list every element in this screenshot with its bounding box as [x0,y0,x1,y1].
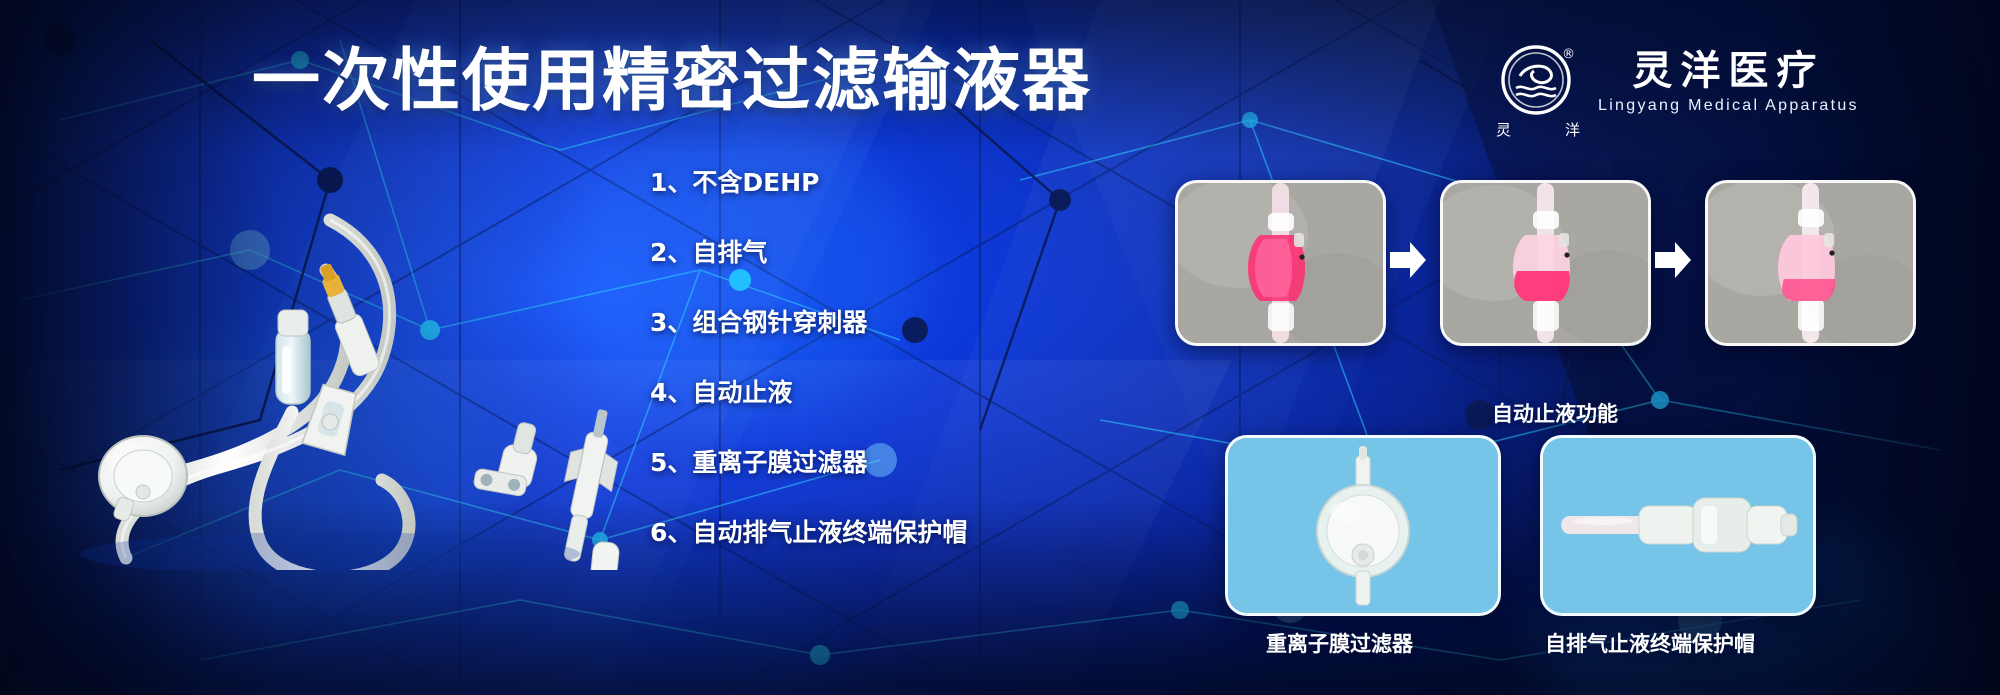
brand-logo: ® 灵 洋 灵洋医疗 Lingyang Medical Apparatus [1496,40,1859,124]
terminal-protector-cap-photo [1540,435,1816,616]
feature-item-4: 4、自动止液 [650,380,970,405]
logo-mark-right-char: 洋 [1565,119,1580,140]
brand-name-cn: 灵洋医疗 [1632,49,1824,93]
product-photo [30,150,650,570]
membrane-filter-caption: 重离子膜过滤器 [1266,628,1413,658]
auto-stop-step-1-photo [1175,180,1386,346]
svg-text:®: ® [1562,47,1575,62]
feature-item-1: 1、不含DEHP [650,170,970,195]
feature-item-5: 5、重离子膜过滤器 [650,450,970,475]
feature-item-2: 2、自排气 [650,240,970,265]
auto-stop-step-2-photo [1440,180,1651,346]
membrane-filter-photo [1225,435,1501,616]
feature-list: 1、不含DEHP 2、自排气 3、组合钢针穿刺器 4、自动止液 5、重离子膜过滤… [650,170,970,545]
logo-mark-left-char: 灵 [1496,119,1511,140]
feature-item-3: 3、组合钢针穿刺器 [650,310,970,335]
sequence-caption: 自动止液功能 [1492,398,1618,428]
sequence-arrow-icon [1388,238,1428,282]
sequence-arrow-icon [1653,238,1693,282]
feature-item-6: 6、自动排气止液终端保护帽 [650,520,970,545]
product-banner: 一次性使用精密过滤输液器 ® 灵 洋 灵洋医疗 Lingyang Medical… [0,0,2000,695]
auto-stop-step-3-photo [1705,180,1916,346]
terminal-protector-cap-caption: 自排气止液终端保护帽 [1545,628,1755,658]
page-title: 一次性使用精密过滤输液器 [252,48,1092,116]
logo-emblem-icon: ® 灵 洋 [1496,40,1580,124]
brand-name-en: Lingyang Medical Apparatus [1598,97,1859,115]
